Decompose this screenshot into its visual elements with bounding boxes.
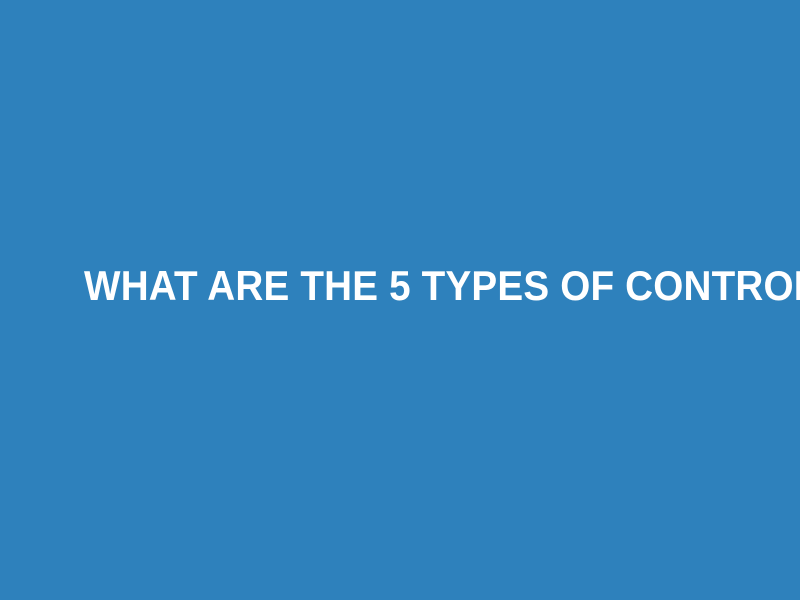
headline-container: WHAT ARE THE 5 TYPES OF CONTROLS?	[0, 0, 800, 600]
page-title: WHAT ARE THE 5 TYPES OF CONTROLS?	[50, 270, 750, 316]
page-title-text: WHAT ARE THE 5 TYPES OF CONTROLS?	[84, 263, 800, 309]
title-card: WHAT ARE THE 5 TYPES OF CONTROLS?	[0, 0, 800, 600]
